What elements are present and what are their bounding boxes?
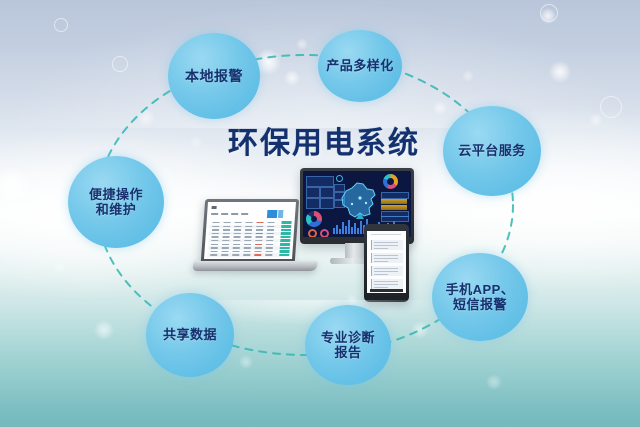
feature-bubble-label: 云平台服务 (458, 143, 526, 158)
feature-bubble-cloud-service[interactable]: 云平台服务 (443, 106, 541, 196)
feature-bubble-label: 本地报警 (185, 68, 243, 85)
feature-bubble-local-alarm[interactable]: 本地报警 (168, 33, 260, 119)
feature-bubble-app-sms-alarm[interactable]: 手机APP、短信报警 (432, 253, 528, 341)
feature-bubble-shared-data[interactable]: 共享数据 (146, 293, 234, 377)
tablet-screen[interactable] (367, 231, 406, 293)
laptop-screen[interactable] (204, 202, 296, 259)
page-title: 环保用电系统 (228, 118, 420, 162)
feature-bubble-label: 产品多样化 (326, 58, 394, 73)
feature-bubble-diagnosis-report[interactable]: 专业诊断报告 (305, 305, 391, 385)
feature-bubble-easy-operation[interactable]: 便捷操作和维护 (68, 156, 164, 248)
laptop-lid (201, 199, 299, 262)
feature-bubble-product-variety[interactable]: 产品多样化 (318, 30, 402, 102)
feature-bubble-label: 专业诊断报告 (321, 330, 375, 361)
laptop-base (192, 261, 318, 271)
feature-bubble-label: 共享数据 (163, 327, 217, 342)
feature-bubble-label: 便捷操作和维护 (89, 187, 143, 218)
poster-canvas: 环保用电系统 本地报警产品多样化云平台服务手机APP、短信报警专业诊断报告共享数… (0, 0, 640, 427)
feature-bubble-label: 手机APP、短信报警 (446, 282, 515, 313)
